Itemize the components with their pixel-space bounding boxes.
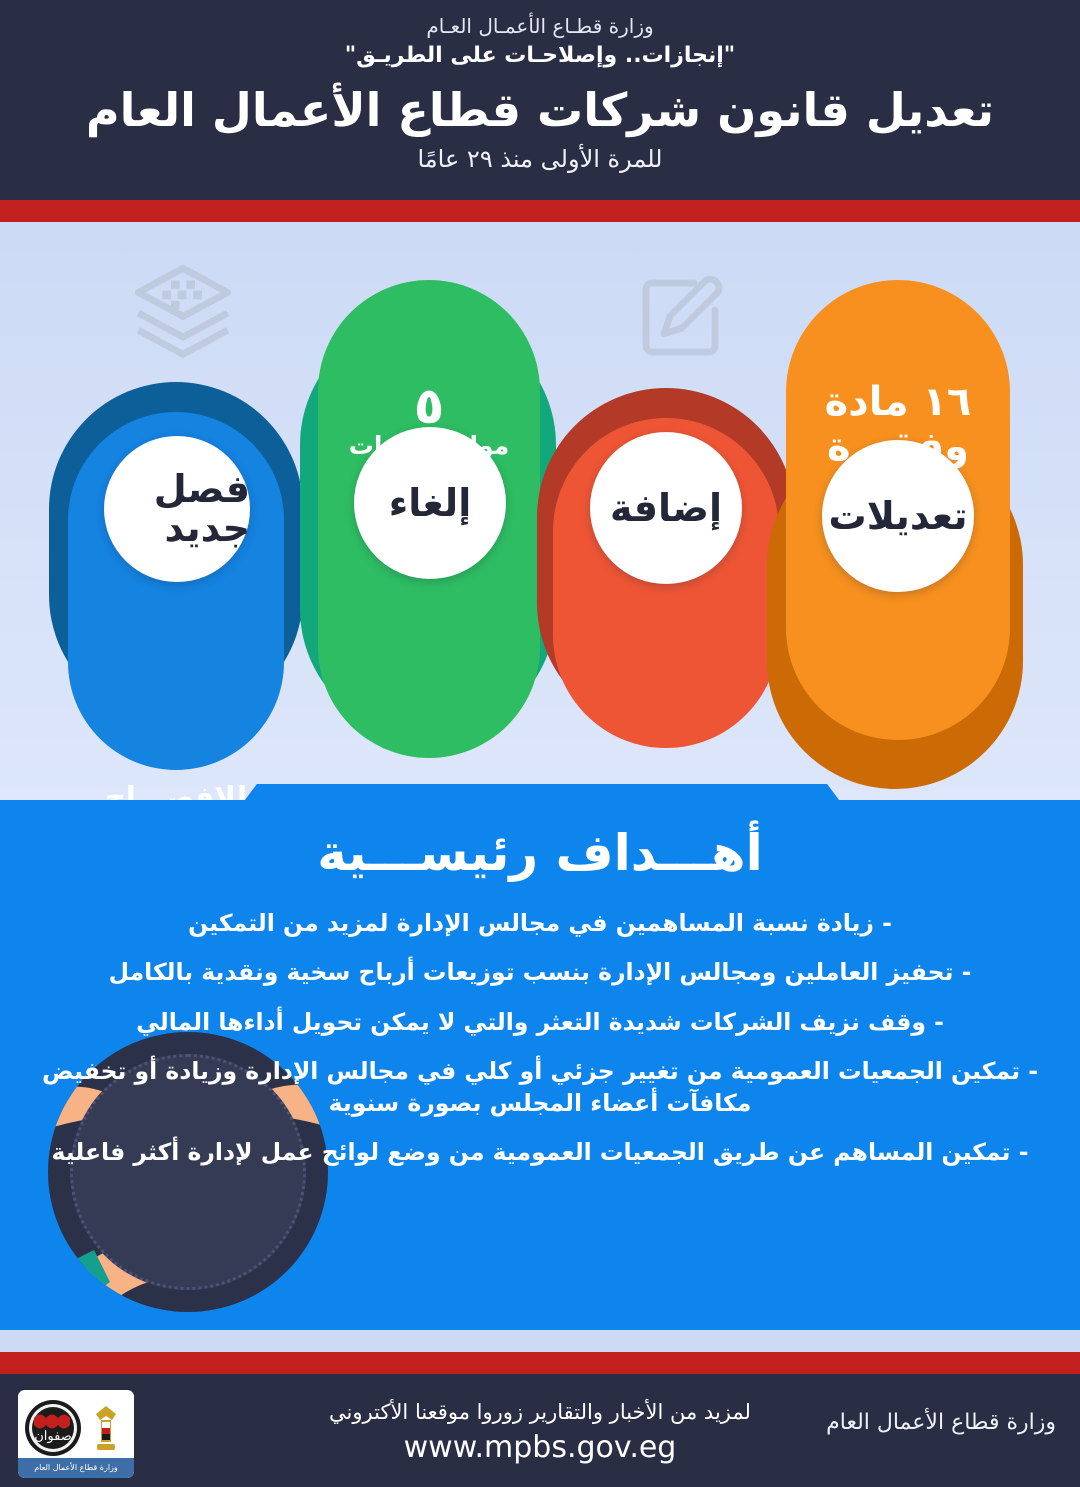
footer: صفوان وزارة قطاع الأعمال العام لمزيد من … xyxy=(0,1374,1080,1487)
goal-item: - وقف نزيف الشركات شديدة التعثر والتي لا… xyxy=(40,1007,1040,1038)
pill-blue-badge-label: فصل جديد xyxy=(104,470,250,548)
pill-orange-badge-label: تعديلات xyxy=(829,497,968,536)
footer-red-divider xyxy=(0,1352,1080,1374)
pill-orange-badge: تعديلات xyxy=(822,440,974,592)
footer-ministry-name: وزارة قطاع الأعمال العام xyxy=(826,1410,1056,1435)
pills-group: للإفصـــاح والحوكمــة فصل جديد ٥ مواد وف… xyxy=(0,222,1080,800)
pill-red-badge: إضافة xyxy=(590,432,742,584)
header-subtitle: للمرة الأولى منذ ٢٩ عامًا xyxy=(0,137,1080,173)
header-ministry-name: وزارة قطـاع الأعمـال العـام xyxy=(0,0,1080,38)
infographic-page: وزارة قطـاع الأعمـال العـام "إنجازات.. و… xyxy=(0,0,1080,1487)
pill-green-number: ٥ xyxy=(318,380,540,433)
goal-item: - تحفيز العاملين ومجالس الإدارة بنسب توز… xyxy=(40,957,1040,988)
goal-item: - تمكين المساهم عن طريق الجمعيات العمومي… xyxy=(40,1137,1040,1168)
header: وزارة قطـاع الأعمـال العـام "إنجازات.. و… xyxy=(0,0,1080,200)
header-slogan: "إنجازات.. وإصلاحـات على الطريـق" xyxy=(0,38,1080,68)
goals-section: أهـــداف رئيســـية xyxy=(0,800,1080,1330)
goal-item: - زيادة نسبة المساهمين في مجالس الإدارة … xyxy=(40,908,1040,939)
pill-red-badge-label: إضافة xyxy=(610,489,722,528)
goals-title: أهـــداف رئيســـية xyxy=(0,824,1080,882)
pill-green-badge: إلغاء xyxy=(354,427,506,579)
pill-green-badge-label: إلغاء xyxy=(389,484,471,523)
goal-item: - تمكين الجمعيات العمومية من تغيير جزئي … xyxy=(40,1056,1040,1119)
goals-list: - زيادة نسبة المساهمين في مجالس الإدارة … xyxy=(40,908,1040,1187)
pill-blue-badge: فصل جديد xyxy=(104,436,250,582)
page-title: تعديل قانون شركات قطاع الأعمال العام xyxy=(0,68,1080,137)
header-red-divider xyxy=(0,200,1080,222)
